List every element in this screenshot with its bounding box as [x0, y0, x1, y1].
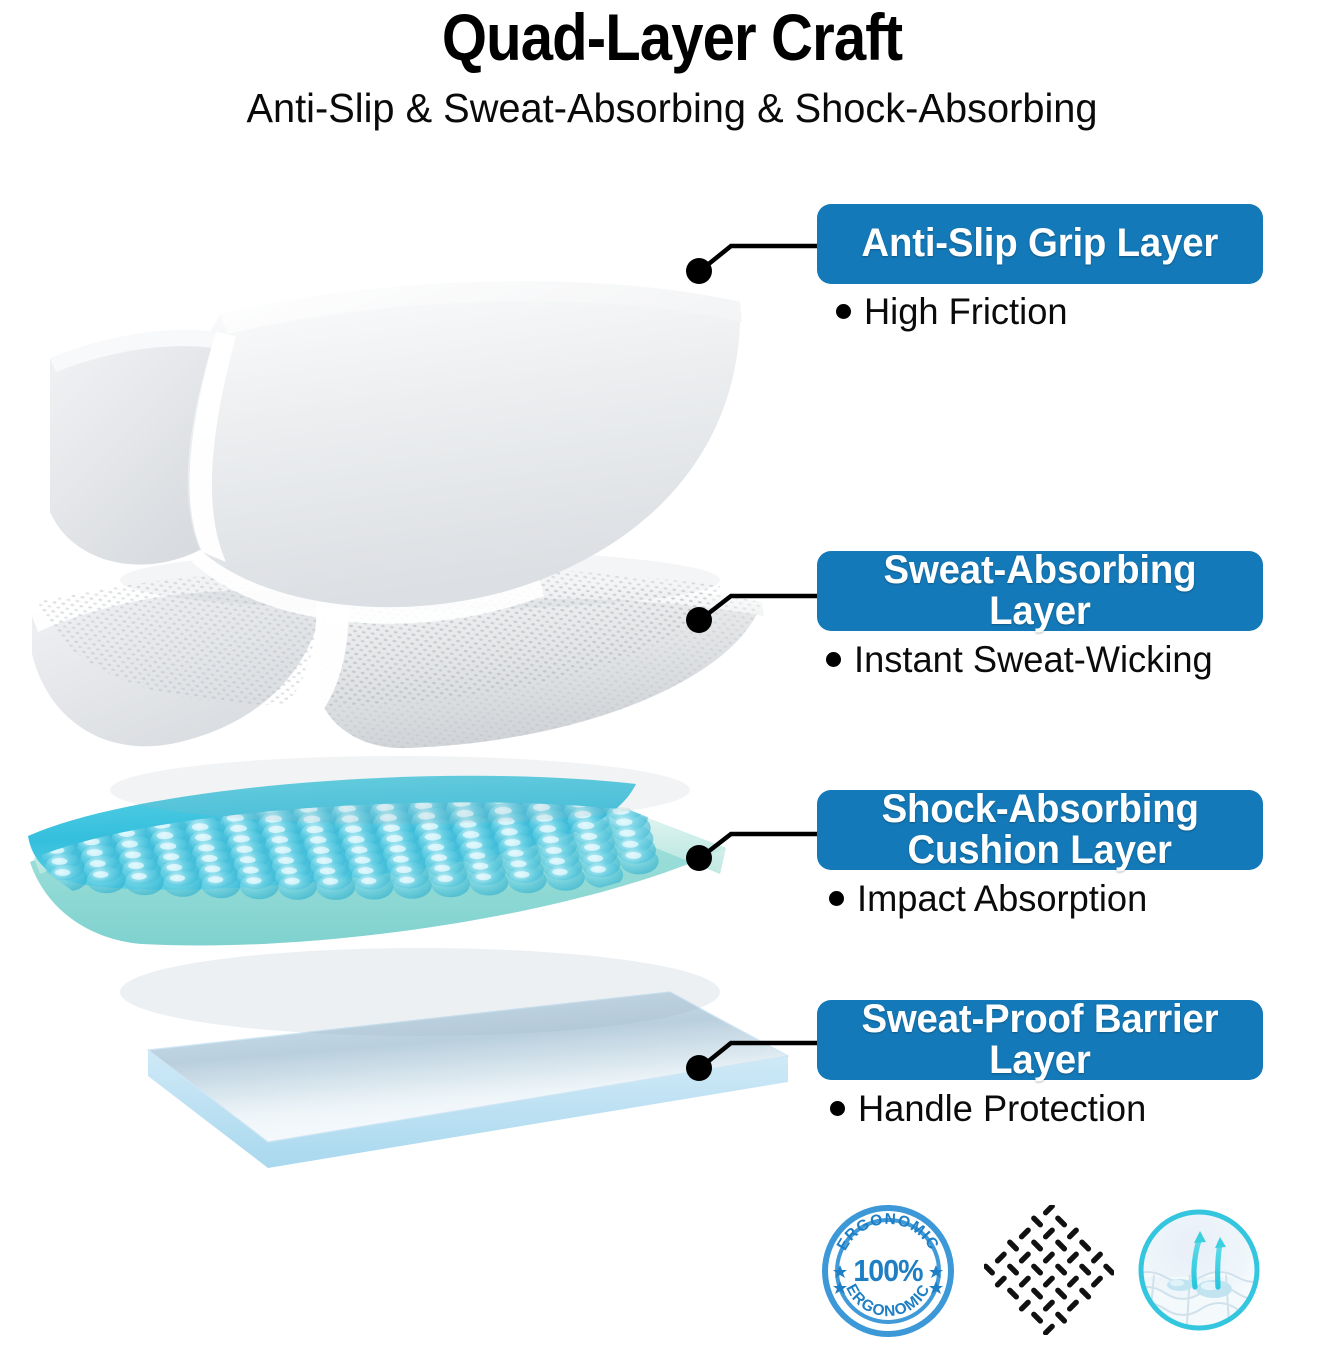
feature-sweat-proof-barrier: Handle Protection	[830, 1090, 1152, 1127]
moisture-wicking-icon	[1134, 1205, 1264, 1335]
feature-anti-slip-grip: High Friction	[836, 293, 1072, 330]
badge-label-shock-absorbing-line2: Cushion Layer	[908, 830, 1172, 871]
badge-label-sweat-proof-line2: Layer	[989, 1040, 1091, 1081]
stamp-center-text: 100%	[827, 1253, 948, 1289]
moisture-wicking-badge	[1134, 1205, 1264, 1345]
bullet-point-icon	[836, 304, 851, 319]
woven-mesh-badge	[984, 1205, 1114, 1345]
badge-label-sweat-absorbing-line1: Sweat-Absorbing	[884, 550, 1197, 591]
layer-anti-slip-grip	[50, 281, 742, 623]
badge-label-anti-slip-grip: Anti-Slip Grip Layer	[862, 223, 1219, 264]
page-title: Quad-Layer Craft	[81, 4, 1264, 70]
feature-shock-absorbing-cushion: Impact Absorption	[829, 880, 1153, 917]
feature-label: Instant Sweat-Wicking	[854, 641, 1213, 678]
page-subtitle: Anti-Slip & Sweat-Absorbing & Shock-Abso…	[20, 88, 1324, 129]
badge-label-sweat-absorbing-line2: Layer	[989, 591, 1091, 632]
ergonomic-stamp-icon: ERGONOMIC ERGONOMIC 100%	[822, 1205, 954, 1337]
ergonomic-stamp-badge: ERGONOMIC ERGONOMIC 100%	[822, 1205, 954, 1345]
infographic-canvas: Quad-Layer Craft Anti-Slip & Sweat-Absor…	[0, 0, 1344, 1344]
woven-mesh-icon	[984, 1205, 1114, 1335]
bullet-point-icon	[829, 891, 844, 906]
badge-shock-absorbing-cushion[interactable]: Shock-Absorbing Cushion Layer	[817, 790, 1263, 870]
certification-icon-row: ERGONOMIC ERGONOMIC 100%	[812, 1205, 1282, 1345]
feature-sweat-absorbing: Instant Sweat-Wicking	[826, 641, 1220, 678]
badge-label-sweat-proof-line1: Sweat-Proof Barrier	[862, 999, 1219, 1040]
layer-stack-svg	[20, 250, 810, 1200]
feature-label: High Friction	[864, 293, 1068, 330]
feature-label: Handle Protection	[858, 1090, 1146, 1127]
badge-sweat-proof-barrier[interactable]: Sweat-Proof Barrier Layer	[817, 1000, 1263, 1080]
bullet-point-icon	[826, 652, 841, 667]
badge-anti-slip-grip[interactable]: Anti-Slip Grip Layer	[817, 204, 1263, 284]
badge-sweat-absorbing[interactable]: Sweat-Absorbing Layer	[817, 551, 1263, 631]
feature-label: Impact Absorption	[857, 880, 1147, 917]
badge-label-shock-absorbing-line1: Shock-Absorbing	[881, 789, 1198, 830]
bullet-point-icon	[830, 1101, 845, 1116]
layer-stack-illustration	[20, 250, 810, 1200]
header: Quad-Layer Craft Anti-Slip & Sweat-Absor…	[0, 0, 1344, 129]
